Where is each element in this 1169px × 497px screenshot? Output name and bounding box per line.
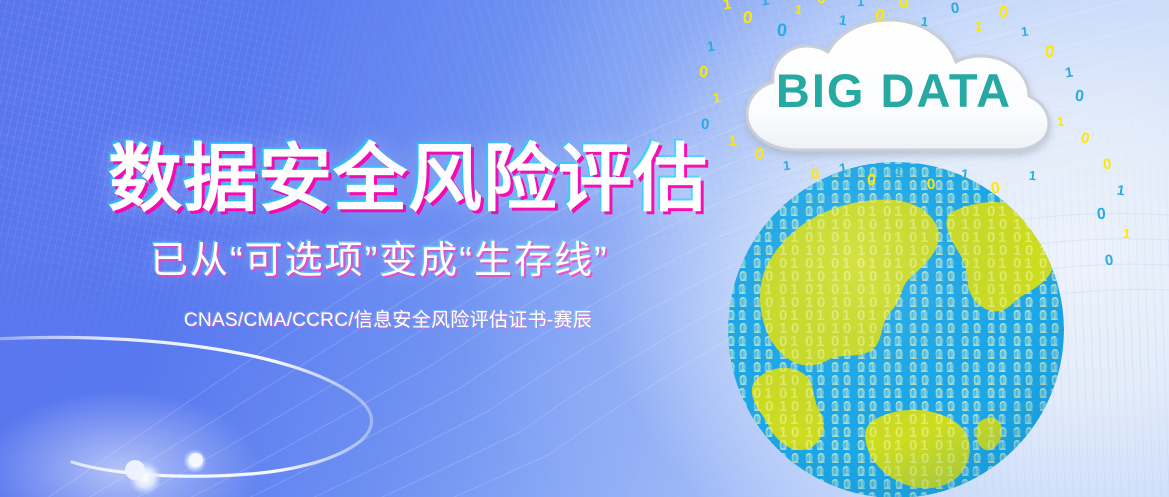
- binary-digit: 0: [1074, 88, 1085, 107]
- binary-digit: 1: [1064, 63, 1074, 80]
- banner-artwork: 1 0 0 1 0 1 1 0: [709, 0, 1169, 497]
- binary-digit: 0: [1079, 129, 1090, 147]
- binary-digit: 1: [794, 1, 804, 17]
- binary-digit: 1: [722, 0, 733, 13]
- binary-digit: 0: [816, 0, 827, 8]
- binary-globe: 1 0 0 1 0 1 1 0: [724, 152, 1079, 497]
- subtitle: 已从“可选项”变成“生存线”: [150, 242, 609, 280]
- binary-digit: 0: [1104, 251, 1115, 269]
- binary-digit: 0: [897, 0, 911, 14]
- binary-digit: 0: [1102, 156, 1112, 174]
- page-title: 数据安全风险评估: [108, 142, 708, 216]
- certification-caption: CNAS/CMA/CCRC/信息安全风险评估证书-赛辰: [184, 311, 592, 330]
- binary-digit: 0: [950, 0, 961, 17]
- binary-digit: 1: [712, 89, 722, 105]
- binary-digit: 1: [759, 0, 770, 9]
- binary-digit: 1: [1116, 182, 1126, 199]
- binary-digit: 1: [1122, 226, 1131, 242]
- banner-copy: 数据安全风险评估 已从“可选项”变成“生存线” CNAS/CMA/CCRC/信息…: [0, 0, 720, 497]
- hero-banner: 数据安全风险评估 已从“可选项”变成“生存线” CNAS/CMA/CCRC/信息…: [0, 0, 1169, 497]
- binary-digit: 1: [856, 0, 864, 9]
- binary-digit: 0: [1096, 206, 1106, 225]
- cloud-label: BIG DATA: [729, 18, 1059, 163]
- big-data-cloud: BIG DATA: [729, 18, 1059, 163]
